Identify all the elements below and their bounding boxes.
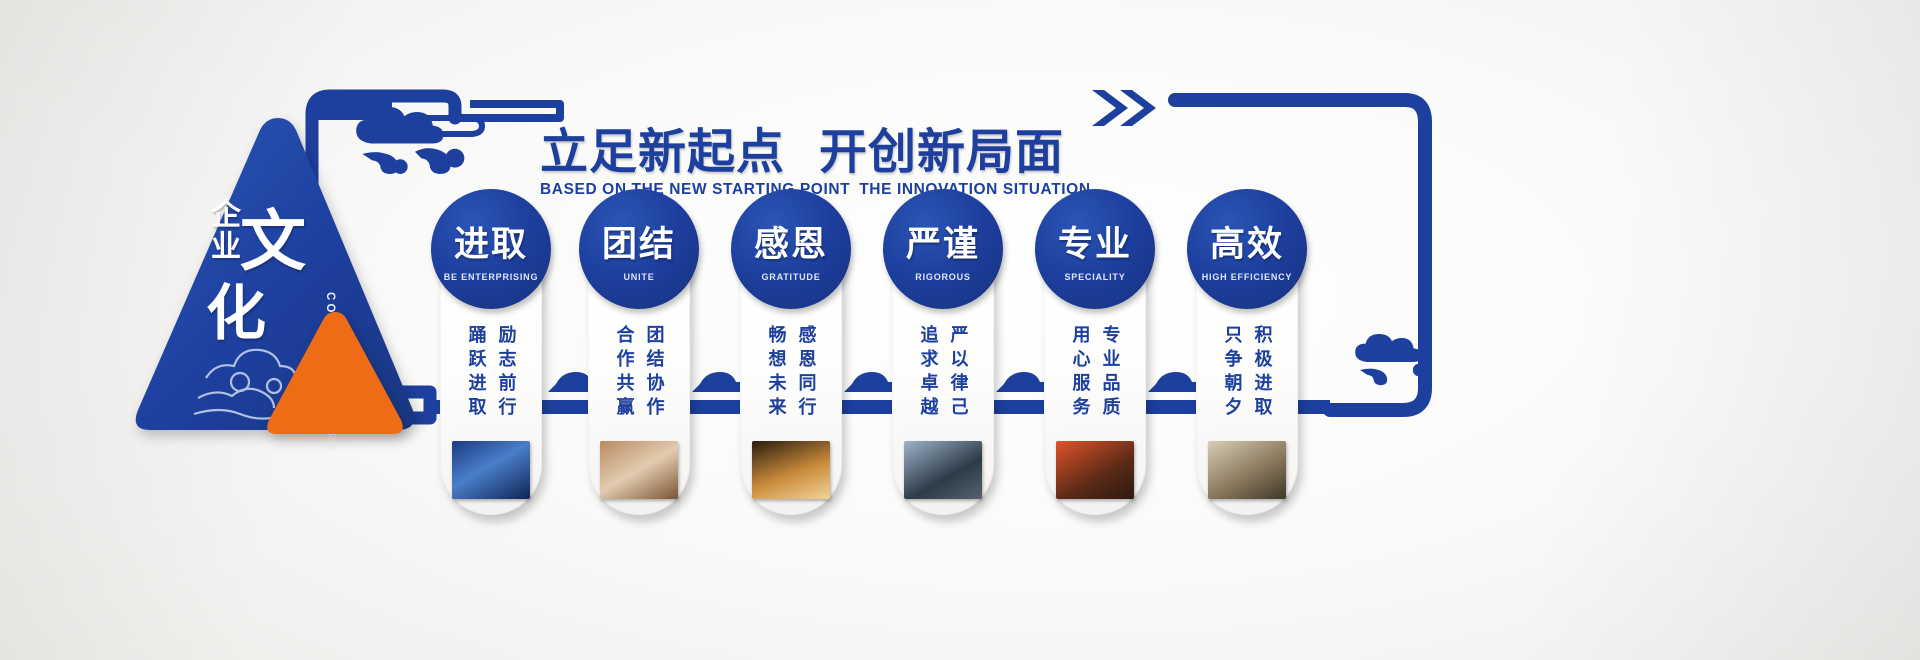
headline-cn-right: 开创新局面 bbox=[819, 124, 1064, 180]
pill-circle-4[interactable]: 严谨RIGOROUS bbox=[883, 189, 1003, 309]
pill-5[interactable]: 专业SPECIALITY专业品质用心服务 bbox=[1044, 195, 1146, 515]
pill-6[interactable]: 高效HIGH EFFICIENCY积极进取只争朝夕 bbox=[1196, 195, 1298, 515]
pill-slogan-right: 积极进取 bbox=[1250, 325, 1275, 430]
pill-3[interactable]: 感恩GRATITUDE感恩同行畅想未来 bbox=[740, 195, 842, 515]
pill-slogan-right: 感恩同行 bbox=[794, 325, 819, 430]
pill-photo bbox=[904, 441, 982, 499]
pill-photo bbox=[1056, 441, 1134, 499]
pill-circle-2[interactable]: 团结UNITE bbox=[579, 189, 699, 309]
pill-title: 进取 bbox=[454, 216, 528, 267]
headline-block: 立足新起点开创新局面 BASED ON THE NEW STARTING POI… bbox=[540, 126, 1160, 199]
pill-photo bbox=[452, 441, 530, 499]
pill-circle-3[interactable]: 感恩GRATITUDE bbox=[731, 189, 851, 309]
pill-title: 严谨 bbox=[906, 216, 980, 267]
pill-slogan: 感恩同行畅想未来 bbox=[754, 325, 828, 430]
pill-circle-1[interactable]: 进取BE ENTERPRISING bbox=[431, 189, 551, 309]
pill-photo bbox=[600, 441, 678, 499]
pill-1[interactable]: 进取BE ENTERPRISING励志前行踊跃进取 bbox=[440, 195, 542, 515]
pill-photo bbox=[752, 441, 830, 499]
pill-slogan: 积极进取只争朝夕 bbox=[1210, 325, 1284, 430]
pill-circle-5[interactable]: 专业SPECIALITY bbox=[1035, 189, 1155, 309]
pill-subtitle: GRATITUDE bbox=[761, 272, 820, 282]
pill-slogan-left: 只争朝夕 bbox=[1220, 325, 1245, 430]
pill-subtitle: SPECIALITY bbox=[1064, 272, 1125, 282]
pill-subtitle: HIGH EFFICIENCY bbox=[1202, 272, 1293, 282]
orange-triangle-accent bbox=[265, 308, 405, 440]
pill-slogan: 严以律己追求卓越 bbox=[906, 325, 980, 430]
pill-slogan-left: 合作共赢 bbox=[612, 325, 637, 430]
pill-slogan-right: 励志前行 bbox=[494, 325, 519, 430]
pill-subtitle: RIGOROUS bbox=[915, 272, 970, 282]
pill-subtitle: UNITE bbox=[624, 272, 655, 282]
headline-en-part2: THE INNOVATION SITUATION bbox=[859, 181, 1090, 198]
pill-slogan: 团结协作合作共赢 bbox=[602, 325, 676, 430]
pill-slogan: 专业品质用心服务 bbox=[1058, 325, 1132, 430]
pill-slogan-right: 严以律己 bbox=[946, 325, 971, 430]
logo-char-hua: 化 bbox=[206, 265, 266, 352]
pill-slogan-left: 追求卓越 bbox=[916, 325, 941, 430]
headline-cn-left: 立足新起点 bbox=[540, 124, 785, 180]
double-chevron-right-icon bbox=[1090, 88, 1170, 132]
pill-photo bbox=[1208, 441, 1286, 499]
pill-4[interactable]: 严谨RIGOROUS严以律己追求卓越 bbox=[892, 195, 994, 515]
pill-title: 团结 bbox=[602, 216, 676, 267]
headline-chinese: 立足新起点开创新局面 bbox=[540, 126, 1160, 178]
pill-slogan: 励志前行踊跃进取 bbox=[454, 325, 528, 430]
pill-title: 专业 bbox=[1058, 216, 1132, 267]
pill-2[interactable]: 团结UNITE团结协作合作共赢 bbox=[588, 195, 690, 515]
pill-slogan-right: 团结协作 bbox=[642, 325, 667, 430]
pill-slogan-left: 畅想未来 bbox=[764, 325, 789, 430]
logo-line1: 企业 bbox=[206, 198, 239, 262]
pill-slogan-left: 踊跃进取 bbox=[464, 325, 489, 430]
pill-slogan-left: 用心服务 bbox=[1068, 325, 1093, 430]
pill-circle-6[interactable]: 高效HIGH EFFICIENCY bbox=[1187, 189, 1307, 309]
pill-title: 高效 bbox=[1210, 216, 1284, 267]
pill-subtitle: BE ENTERPRISING bbox=[444, 272, 539, 282]
pill-title: 感恩 bbox=[754, 216, 828, 267]
pill-slogan-right: 专业品质 bbox=[1098, 325, 1123, 430]
